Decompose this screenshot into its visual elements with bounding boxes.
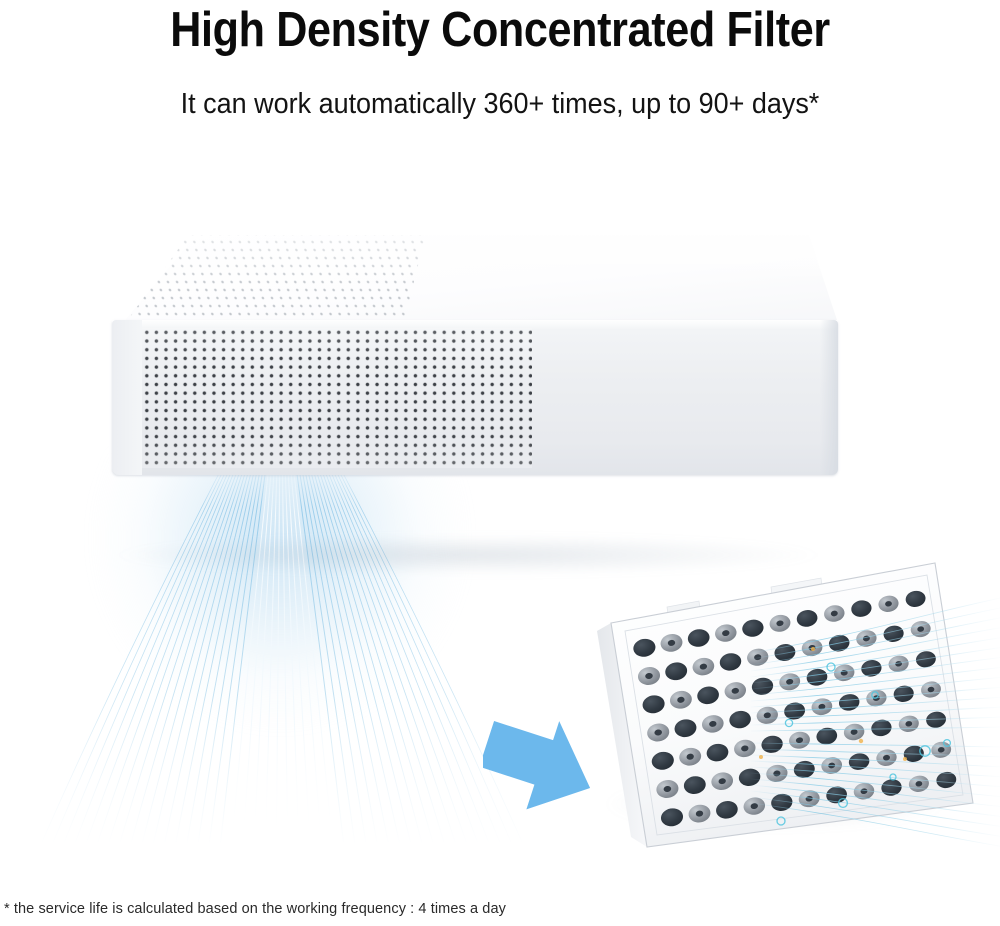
device-right-endcap — [820, 320, 838, 475]
product-illustration: P E T K I T WORKING BATTERY FILTER — [0, 150, 1000, 890]
particle-dot — [811, 647, 815, 651]
filter-artwork — [575, 545, 1000, 875]
particle-dot — [859, 739, 863, 743]
air-purifier-unit: P E T K I T WORKING BATTERY FILTER — [108, 235, 838, 575]
device-vent-shading — [142, 328, 532, 468]
page-title: High Density Concentrated Filter — [60, 2, 940, 58]
device-front-panel — [112, 320, 838, 475]
replacement-filter-cartridge — [575, 545, 1000, 875]
device-left-edge — [112, 320, 142, 475]
particle-dot — [903, 757, 907, 761]
footnote-text: * the service life is calculated based o… — [4, 901, 506, 917]
product-feature-graphic: High Density Concentrated Filter It can … — [0, 0, 1000, 926]
particle-dot — [759, 755, 763, 759]
page-subtitle: It can work automatically 360+ times, up… — [35, 88, 965, 121]
